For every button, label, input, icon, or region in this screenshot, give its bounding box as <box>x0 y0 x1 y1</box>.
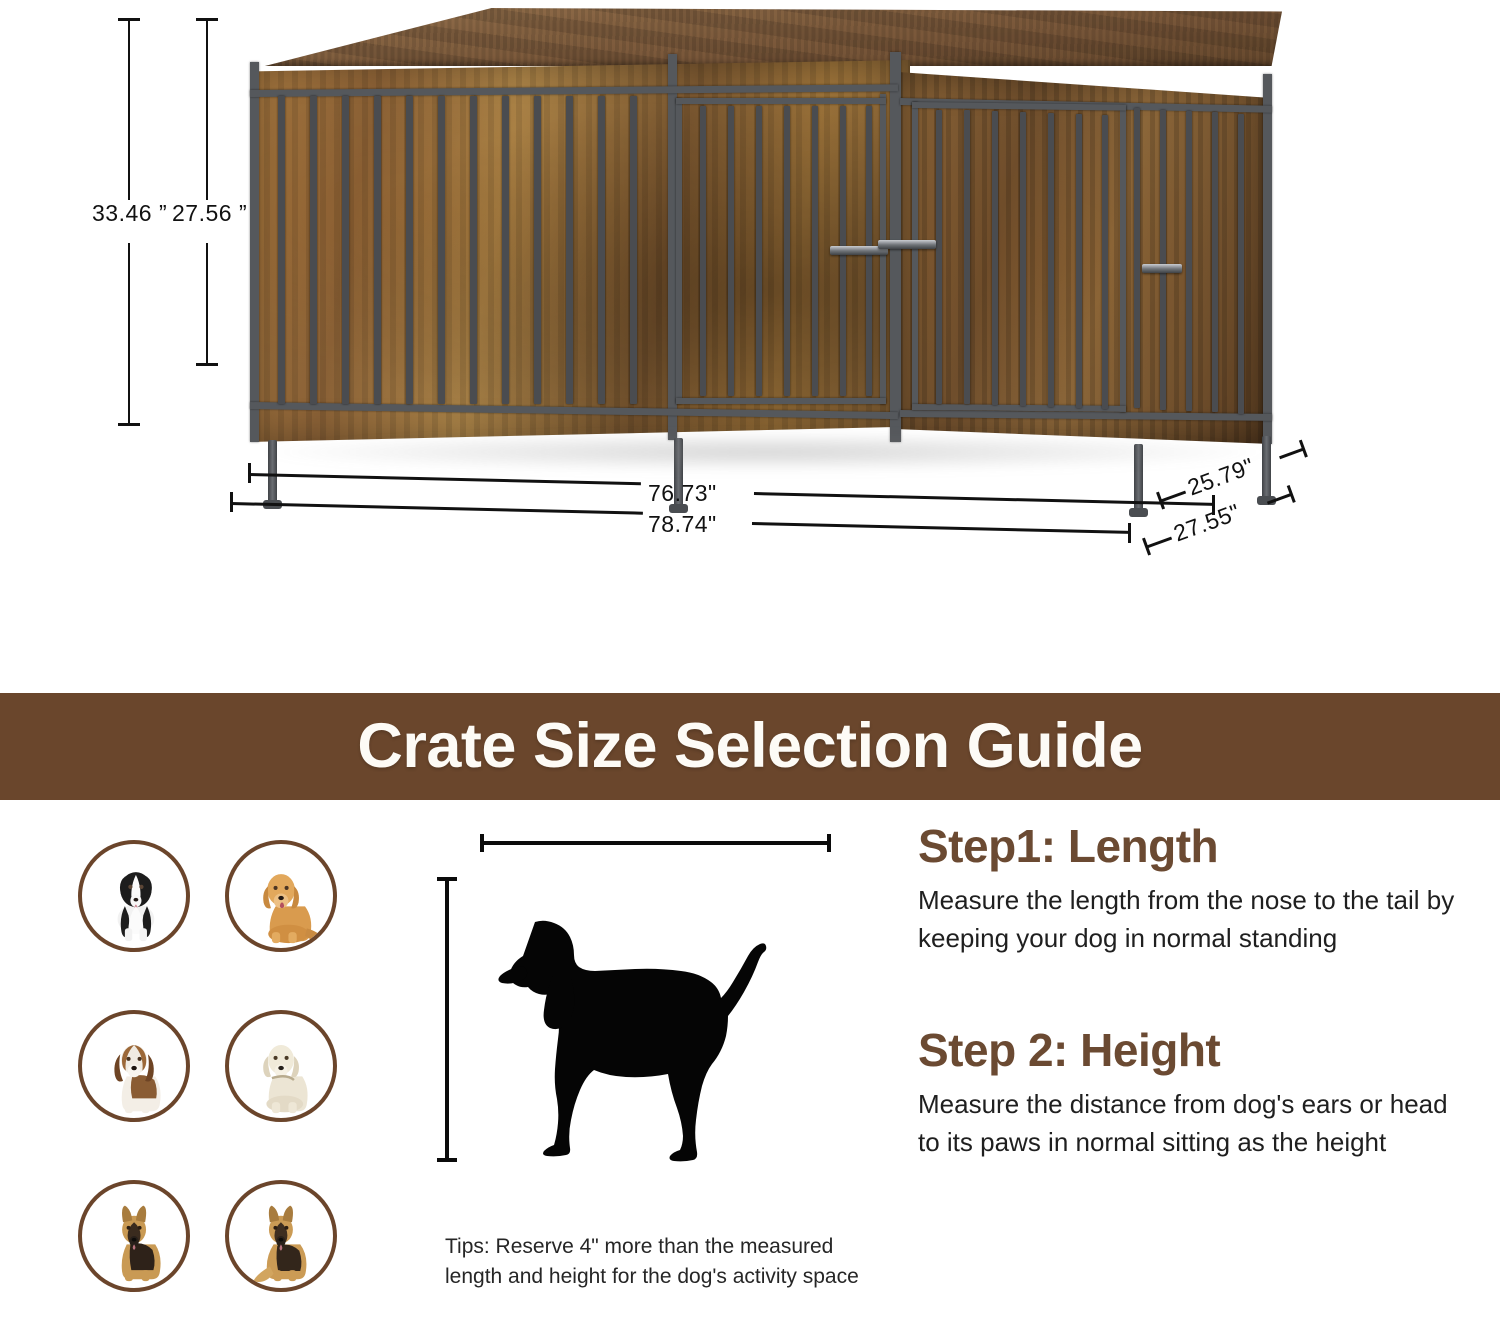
crate-front-panel <box>250 60 910 442</box>
floor-shadow <box>250 432 1280 472</box>
breed-thumb-golden-retriever <box>225 840 337 952</box>
dog-silhouette-icon <box>465 870 815 1170</box>
breed-ring <box>78 840 190 952</box>
height-bar <box>445 877 449 1162</box>
long-haired-german-shepherd-icon <box>229 1184 337 1292</box>
dimension-cap-outer-height-top <box>118 18 140 21</box>
border-collie-icon <box>82 844 190 952</box>
length-bar-cap-right <box>827 834 831 852</box>
dog-measurement-diagram: Tips: Reserve 4" more than the measured … <box>425 810 875 1320</box>
length-bar <box>480 841 831 845</box>
breed-ring <box>78 1180 190 1292</box>
dog-crate-illustration <box>232 8 1292 478</box>
dimension-line-inner-height-lower <box>206 243 208 365</box>
step-1-body: Measure the length from the nose to the … <box>918 882 1463 957</box>
beagle-icon <box>82 1014 190 1122</box>
crate-side-panel <box>898 72 1272 444</box>
dimension-cap-outer-height-bottom <box>118 423 140 426</box>
dimension-label-outer-width: 78.74" <box>648 511 717 538</box>
breed-thumb-german-shepherd <box>78 1180 190 1292</box>
guide-banner: Crate Size Selection Guide <box>0 693 1500 800</box>
breed-thumb-long-haired-german-shepherd <box>225 1180 337 1292</box>
crate-frame-right-post <box>1263 74 1272 444</box>
step-1-heading: Step1: Length <box>918 822 1463 870</box>
breed-ring <box>78 1010 190 1122</box>
breed-thumb-border-collie <box>78 840 190 952</box>
dimension-line-outer-width-left <box>231 502 643 515</box>
infographic-page: 33.46 ” 27.56 ” <box>0 0 1500 1324</box>
step-2: Step 2: Height Measure the distance from… <box>918 1026 1463 1162</box>
crate-frame-divider-post <box>890 52 901 442</box>
step-2-body: Measure the distance from dog's ears or … <box>918 1086 1463 1161</box>
dimension-cap-inner-height-top <box>196 18 218 21</box>
golden-retriever-icon <box>229 844 337 952</box>
dimension-line-outer-height-lower <box>128 243 130 425</box>
dimension-label-outer-height: 33.46 ” <box>92 200 167 227</box>
dimension-line-outer-height <box>128 18 130 200</box>
crate-foot-right <box>1129 508 1148 517</box>
dimension-line-outer-width-right <box>752 522 1130 534</box>
yellow-labrador-icon <box>229 1014 337 1122</box>
step-2-heading: Step 2: Height <box>918 1026 1463 1074</box>
dimension-line-inner-width-right <box>754 492 1214 506</box>
breed-ring <box>225 840 337 952</box>
breed-ring <box>225 1180 337 1292</box>
breed-thumb-beagle <box>78 1010 190 1122</box>
dimension-cap-inner-height-bottom <box>196 363 218 366</box>
crate-size-guide-section: Tips: Reserve 4" more than the measured … <box>0 800 1500 1324</box>
step-1: Step1: Length Measure the length from th… <box>918 822 1463 958</box>
height-bar-cap-bottom <box>437 1158 457 1162</box>
dimension-label-inner-width: 76.73" <box>648 480 717 507</box>
dimension-line-inner-height <box>206 18 208 200</box>
crate-body <box>250 50 1272 440</box>
crate-frame-center-post <box>668 54 677 440</box>
breed-ring <box>225 1010 337 1122</box>
guide-banner-title: Crate Size Selection Guide <box>357 715 1142 778</box>
product-photo-section: 33.46 ” 27.56 ” <box>0 0 1500 693</box>
measurement-tips-text: Tips: Reserve 4" more than the measured … <box>445 1232 865 1292</box>
breed-thumb-yellow-labrador <box>225 1010 337 1122</box>
breed-thumbnail-grid <box>70 820 410 1320</box>
crate-frame-left-post <box>250 62 259 442</box>
dimension-cap-outer-width-right <box>1128 523 1131 543</box>
german-shepherd-icon <box>82 1184 190 1292</box>
measurement-steps: Step1: Length Measure the length from th… <box>918 822 1463 1161</box>
